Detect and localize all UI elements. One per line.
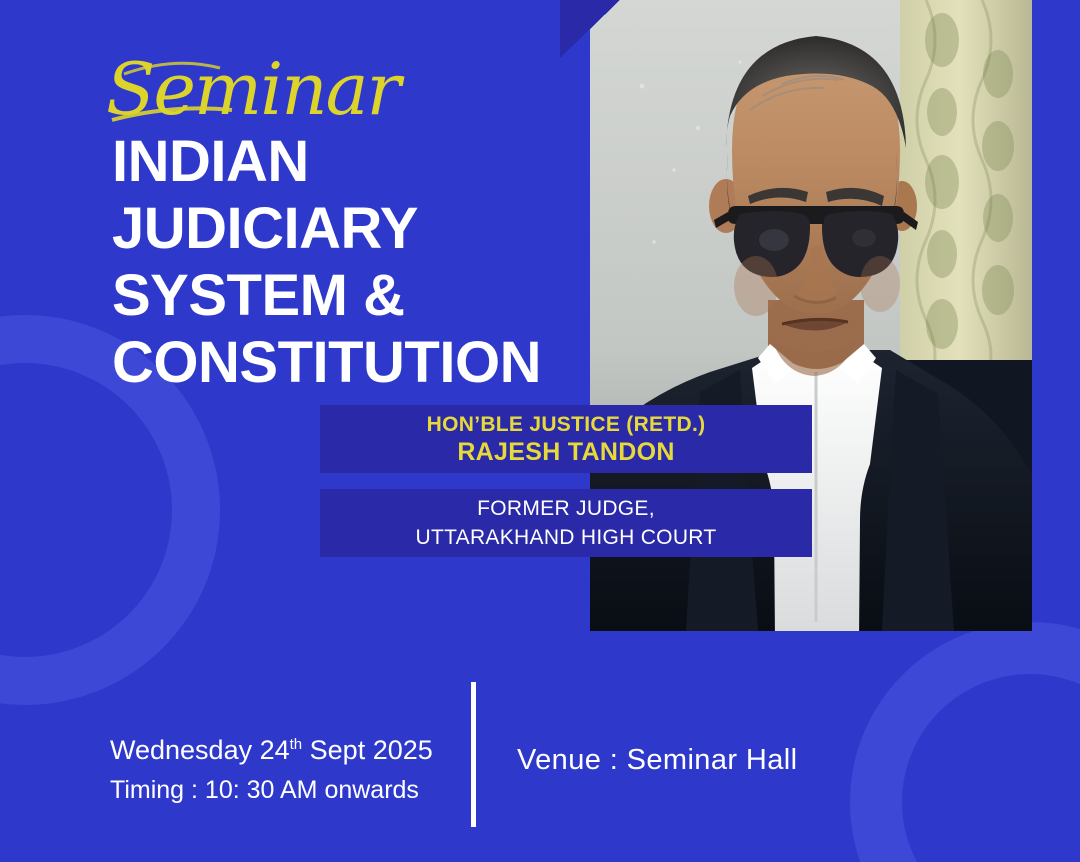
seminar-script-word: Seminar <box>104 50 524 130</box>
speaker-honorific: HON’BLE JUSTICE (RETD.) <box>320 412 812 438</box>
title-line-1: INDIAN <box>112 128 582 195</box>
seminar-poster: Seminar INDIAN JUDICIARY SYSTEM & CONSTI… <box>0 0 1080 862</box>
event-time: Timing : 10: 30 AM onwards <box>110 770 433 810</box>
speaker-role-line-2: UTTARAKHAND HIGH COURT <box>320 523 812 552</box>
speaker-name: RAJESH TANDON <box>320 438 812 467</box>
speaker-name-banner: HON’BLE JUSTICE (RETD.) RAJESH TANDON <box>320 405 812 473</box>
page-title: INDIAN JUDICIARY SYSTEM & CONSTITUTION <box>112 128 582 396</box>
event-date-suffix: Sept 2025 <box>302 735 433 765</box>
event-date-prefix: Wednesday 24 <box>110 735 290 765</box>
event-date: Wednesday 24th Sept 2025 <box>110 725 433 770</box>
speaker-role-line-1: FORMER JUDGE, <box>320 494 812 523</box>
speaker-role-banner: FORMER JUDGE, UTTARAKHAND HIGH COURT <box>320 489 812 557</box>
title-line-2: JUDICIARY <box>112 195 582 262</box>
decorative-ring-right <box>850 622 1080 862</box>
seminar-script-text: Seminar <box>106 47 405 131</box>
title-line-3: SYSTEM & <box>112 262 582 329</box>
footer-divider <box>471 682 476 827</box>
event-datetime: Wednesday 24th Sept 2025 Timing : 10: 30… <box>110 725 433 810</box>
event-date-ordinal: th <box>290 736 303 753</box>
event-venue: Venue : Seminar Hall <box>517 742 797 778</box>
title-line-4: CONSTITUTION <box>112 329 582 396</box>
